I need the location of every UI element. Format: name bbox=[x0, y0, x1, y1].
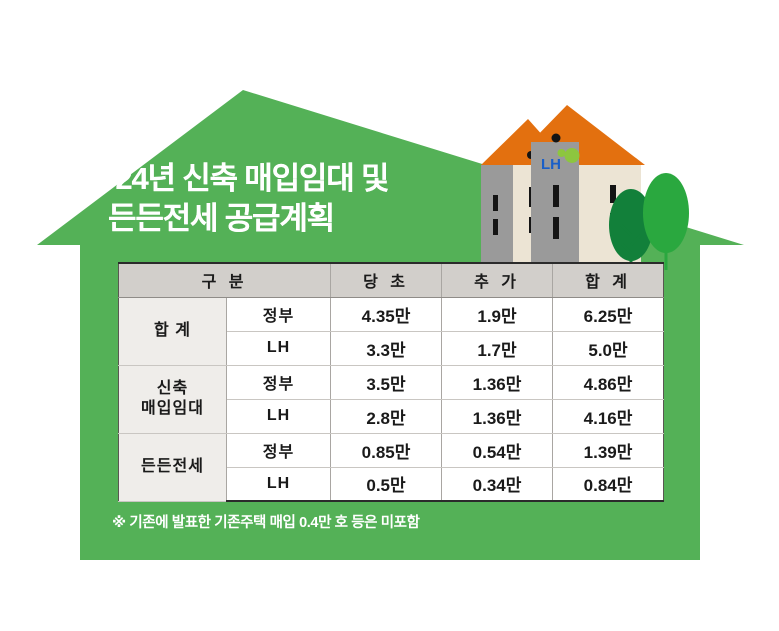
sub-label: LH bbox=[227, 331, 331, 365]
header-category: 구 분 bbox=[119, 263, 331, 297]
cell-value: 1.9만 bbox=[442, 297, 553, 331]
page-title: ‘24년 신축 매입임대 및 든든전세 공급계획 bbox=[108, 161, 508, 237]
table-row: 신축 매입임대 정부 3.5만 1.36만 4.86만 bbox=[119, 365, 664, 399]
cell-value: 0.85만 bbox=[331, 433, 442, 467]
cell-value: 0.34만 bbox=[442, 467, 553, 501]
sub-label: LH bbox=[227, 399, 331, 433]
supply-plan-table-wrapper: 구 분 당 초 추 가 합 계 합 계 정부 4.35만 1.9만 6.25만 … bbox=[118, 262, 664, 502]
infographic-canvas: ‘24년 신축 매입임대 및 든든전세 공급계획 bbox=[0, 0, 779, 631]
group-label-total: 합 계 bbox=[119, 297, 227, 365]
sub-label: 정부 bbox=[227, 297, 331, 331]
group-label-line-1: 신축 bbox=[157, 380, 188, 397]
house-left-window-2 bbox=[493, 219, 498, 235]
footnote: ※ 기존에 발표한 기존주택 매입 0.4만 호 등은 미포함 bbox=[112, 511, 420, 532]
cell-value: 4.86만 bbox=[553, 365, 664, 399]
cell-value: 0.84만 bbox=[553, 467, 664, 501]
cell-value: 6.25만 bbox=[553, 297, 664, 331]
header-additional: 추 가 bbox=[442, 263, 553, 297]
table-row: 든든전세 정부 0.85만 0.54만 1.39만 bbox=[119, 433, 664, 467]
cell-value: 3.5만 bbox=[331, 365, 442, 399]
lh-logo-text: LH bbox=[541, 156, 561, 173]
cell-value: 2.8만 bbox=[331, 399, 442, 433]
cell-value: 1.39만 bbox=[553, 433, 664, 467]
house-center-window-1 bbox=[553, 185, 559, 207]
group-label-line-2: 매입임대 bbox=[141, 400, 204, 417]
lh-logo-dot-large bbox=[565, 148, 580, 163]
cell-value: 0.5만 bbox=[331, 467, 442, 501]
supply-plan-table: 구 분 당 초 추 가 합 계 합 계 정부 4.35만 1.9만 6.25만 … bbox=[118, 262, 664, 502]
header-initial: 당 초 bbox=[331, 263, 442, 297]
table-row: 합 계 정부 4.35만 1.9만 6.25만 bbox=[119, 297, 664, 331]
table-header-row: 구 분 당 초 추 가 합 계 bbox=[119, 263, 664, 297]
cell-value: 4.16만 bbox=[553, 399, 664, 433]
cell-value: 5.0만 bbox=[553, 331, 664, 365]
page-title-line-2: 든든전세 공급계획 bbox=[108, 201, 508, 237]
cell-value: 1.36만 bbox=[442, 399, 553, 433]
house-center-window-2 bbox=[553, 217, 559, 239]
house-left-window-1 bbox=[493, 195, 498, 211]
house-center-dot bbox=[552, 134, 561, 143]
cell-value: 0.54만 bbox=[442, 433, 553, 467]
cell-value: 1.7만 bbox=[442, 331, 553, 365]
group-label-new-purchase: 신축 매입임대 bbox=[119, 365, 227, 433]
tree-light bbox=[643, 173, 689, 270]
group-label-jeonse: 든든전세 bbox=[119, 433, 227, 501]
house-left-wall-gray bbox=[481, 165, 513, 265]
page-title-line-1: ‘24년 신축 매입임대 및 bbox=[108, 161, 508, 197]
sub-label: 정부 bbox=[227, 433, 331, 467]
sub-label: 정부 bbox=[227, 365, 331, 399]
cell-value: 3.3만 bbox=[331, 331, 442, 365]
sub-label: LH bbox=[227, 467, 331, 501]
cell-value: 1.36만 bbox=[442, 365, 553, 399]
cell-value: 4.35만 bbox=[331, 297, 442, 331]
header-total: 합 계 bbox=[553, 263, 664, 297]
